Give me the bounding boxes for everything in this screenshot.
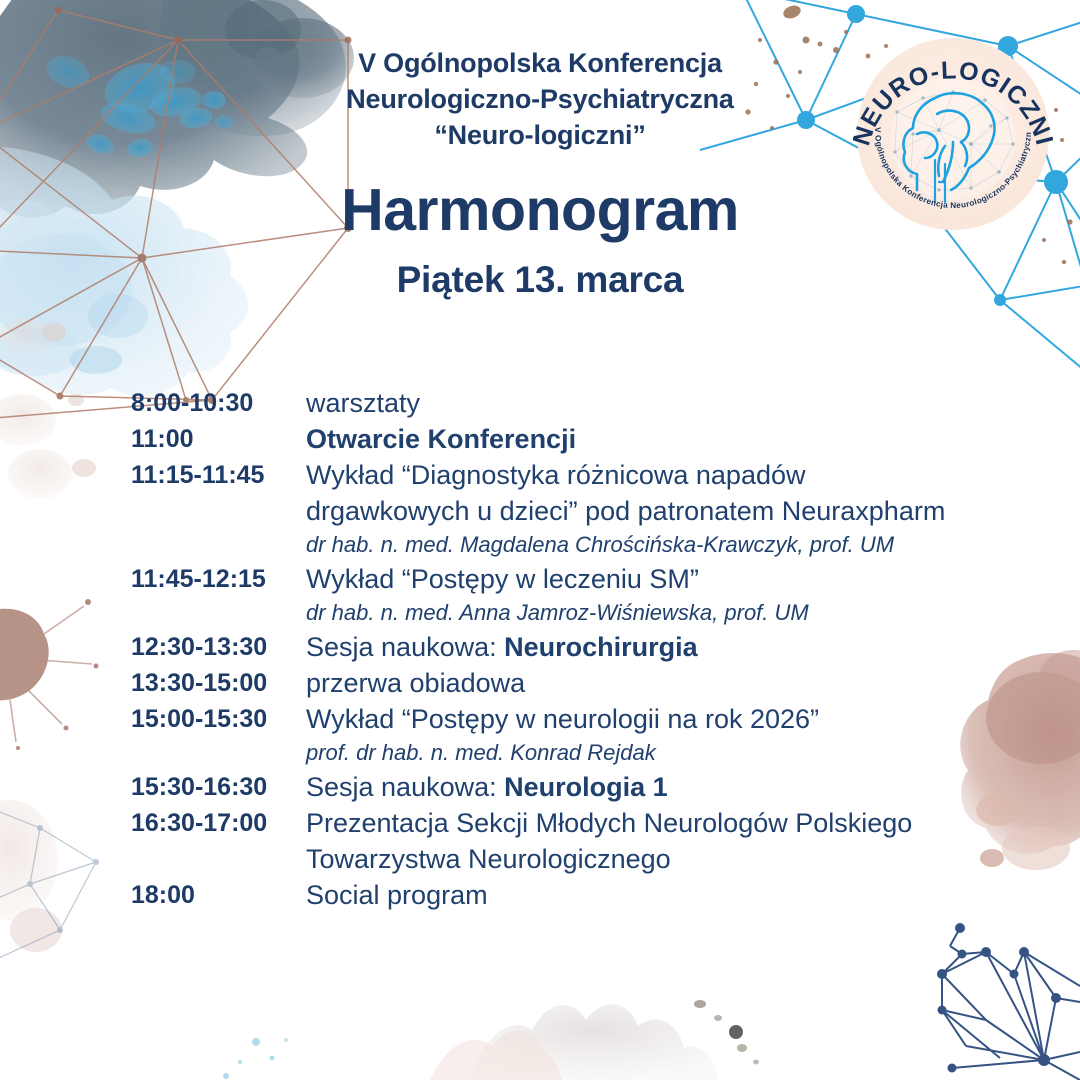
schedule-time: 11:15-11:45 bbox=[131, 457, 306, 493]
speaker-name: prof. dr hab. n. med. Konrad Rejdak bbox=[306, 737, 1031, 769]
desc-plain: Sesja naukowa: bbox=[306, 632, 504, 662]
schedule-row: 12:30-13:30 Sesja naukowa: Neurochirurgi… bbox=[131, 629, 1031, 665]
schedule-row: 15:30-16:30 Sesja naukowa: Neurologia 1 bbox=[131, 769, 1031, 805]
desc-plain: Social program bbox=[306, 880, 488, 910]
schedule-description: Wykład “Postępy w leczeniu SM” dr hab. n… bbox=[306, 561, 1031, 629]
desc-bold: Neurologia 1 bbox=[504, 772, 668, 802]
desc-plain: przerwa obiadowa bbox=[306, 668, 525, 698]
desc-plain: Wykład “Postępy w neurologii na rok 2026… bbox=[306, 701, 1031, 737]
cyan-dot-cluster bbox=[223, 1038, 288, 1079]
schedule-description: Sesja naukowa: Neurologia 1 bbox=[306, 769, 1031, 805]
schedule-time: 15:00-15:30 bbox=[131, 701, 306, 737]
schedule-row: 18:00 Social program bbox=[131, 877, 1031, 913]
schedule-description: Sesja naukowa: Neurochirurgia bbox=[306, 629, 1031, 665]
schedule-row: 11:00 Otwarcie Konferencji bbox=[131, 421, 1031, 457]
watercolor-rose-splatter-left bbox=[0, 599, 98, 750]
speaker-name: dr hab. n. med. Anna Jamroz-Wiśniewska, … bbox=[306, 597, 1031, 629]
schedule-description: warsztaty bbox=[306, 385, 1031, 421]
schedule-description: Prezentacja Sekcji Młodych Neurologów Po… bbox=[306, 805, 1031, 877]
desc-line-2: Towarzystwa Neurologicznego bbox=[306, 841, 1031, 877]
schedule-time: 11:45-12:15 bbox=[131, 561, 306, 597]
desc-plain: Prezentacja Sekcji Młodych Neurologów Po… bbox=[306, 805, 1031, 841]
schedule-row: 15:00-15:30 Wykład “Postępy w neurologii… bbox=[131, 701, 1031, 769]
schedule-row: 16:30-17:00 Prezentacja Sekcji Młodych N… bbox=[131, 805, 1031, 877]
schedule-row: 13:30-15:00 przerwa obiadowa bbox=[131, 665, 1031, 701]
schedule-time: 18:00 bbox=[131, 877, 306, 913]
schedule-time: 11:00 bbox=[131, 421, 306, 457]
desc-bold: Neurochirurgia bbox=[504, 632, 698, 662]
schedule-row: 11:45-12:15 Wykład “Postępy w leczeniu S… bbox=[131, 561, 1031, 629]
schedule-description: Social program bbox=[306, 877, 1031, 913]
schedule-list: 8:00-10:30 warsztaty 11:00 Otwarcie Konf… bbox=[131, 385, 1031, 913]
conference-logo: NEURO-LOGICZNI V Ogólnopolska Konferencj… bbox=[853, 34, 1053, 234]
desc-line-2: drgawkowych u dzieci” pod patronatem Neu… bbox=[306, 493, 1031, 529]
schedule-description: przerwa obiadowa bbox=[306, 665, 1031, 701]
schedule-time: 15:30-16:30 bbox=[131, 769, 306, 805]
schedule-date: Piątek 13. marca bbox=[0, 259, 1080, 301]
desc-plain: Wykład “Postępy w leczeniu SM” bbox=[306, 561, 1031, 597]
network-bottom-right bbox=[937, 923, 1080, 1080]
desc-bold: Otwarcie Konferencji bbox=[306, 424, 576, 454]
schedule-time: 13:30-15:00 bbox=[131, 665, 306, 701]
schedule-row: 11:15-11:45 Wykład “Diagnostyka różnicow… bbox=[131, 457, 1031, 561]
schedule-description: Wykład “Postępy w neurologii na rok 2026… bbox=[306, 701, 1031, 769]
desc-plain: warsztaty bbox=[306, 388, 420, 418]
conference-schedule-poster: V Ogólnopolska Konferencja Neurologiczno… bbox=[0, 0, 1080, 1080]
desc-plain: Wykład “Diagnostyka różnicowa napadów bbox=[306, 457, 1031, 493]
schedule-description: Wykład “Diagnostyka różnicowa napadów dr… bbox=[306, 457, 1031, 561]
schedule-time: 16:30-17:00 bbox=[131, 805, 306, 841]
speaker-name: dr hab. n. med. Magdalena Chrościńska-Kr… bbox=[306, 529, 1031, 561]
watercolor-bottom-center bbox=[430, 1000, 759, 1080]
schedule-row: 8:00-10:30 warsztaty bbox=[131, 385, 1031, 421]
schedule-time: 12:30-13:30 bbox=[131, 629, 306, 665]
schedule-description: Otwarcie Konferencji bbox=[306, 421, 1031, 457]
schedule-time: 8:00-10:30 bbox=[131, 385, 306, 421]
desc-plain: Sesja naukowa: bbox=[306, 772, 504, 802]
